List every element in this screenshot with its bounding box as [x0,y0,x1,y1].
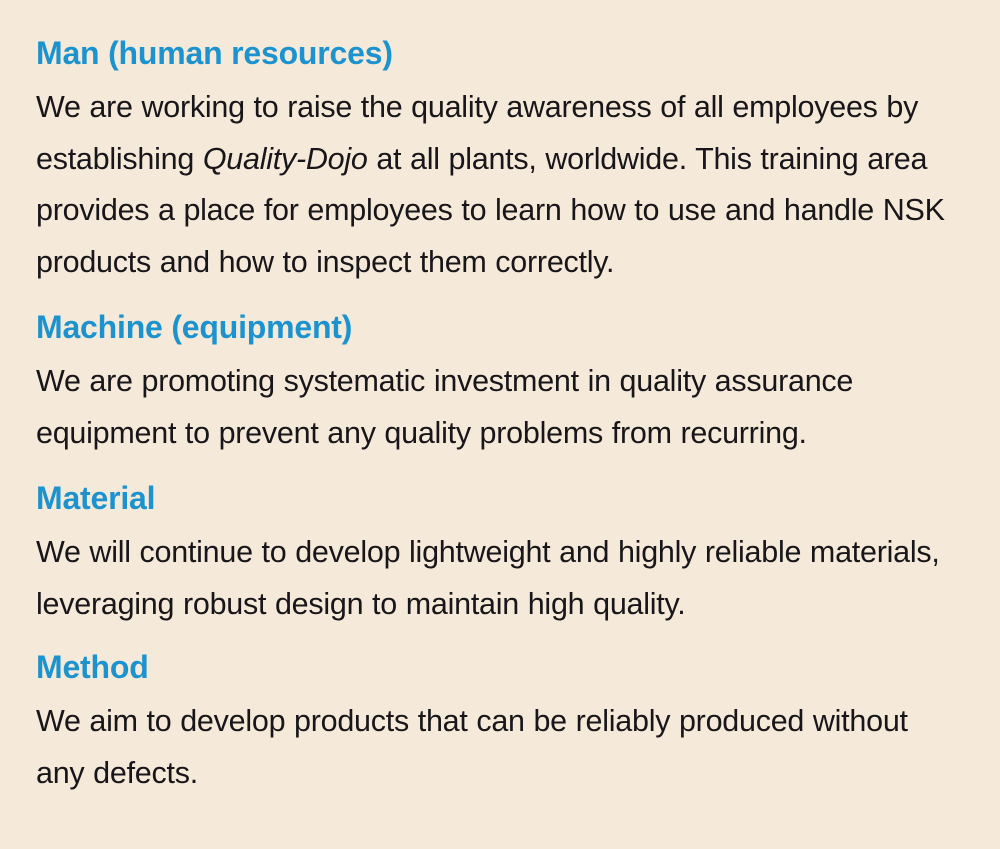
section-heading-machine: Machine (equipment) [36,306,960,348]
section-body-man: We are working to raise the quality awar… [36,82,960,288]
section-body-machine: We are promoting systematic investment i… [36,356,960,459]
section-material: Material We will continue to develop lig… [36,477,960,630]
section-man: Man (human resources) We are working to … [36,32,960,288]
emphasis-quality-dojo: Quality-Dojo [203,142,368,176]
section-heading-material: Material [36,477,960,519]
section-heading-method: Method [36,646,960,688]
section-heading-man: Man (human resources) [36,32,960,74]
section-machine: Machine (equipment) We are promoting sys… [36,306,960,459]
section-body-method: We aim to develop products that can be r… [36,696,960,799]
section-method: Method We aim to develop products that c… [36,646,960,799]
section-body-material: We will continue to develop lightweight … [36,527,960,630]
quality-policy-page: Man (human resources) We are working to … [0,0,1000,849]
